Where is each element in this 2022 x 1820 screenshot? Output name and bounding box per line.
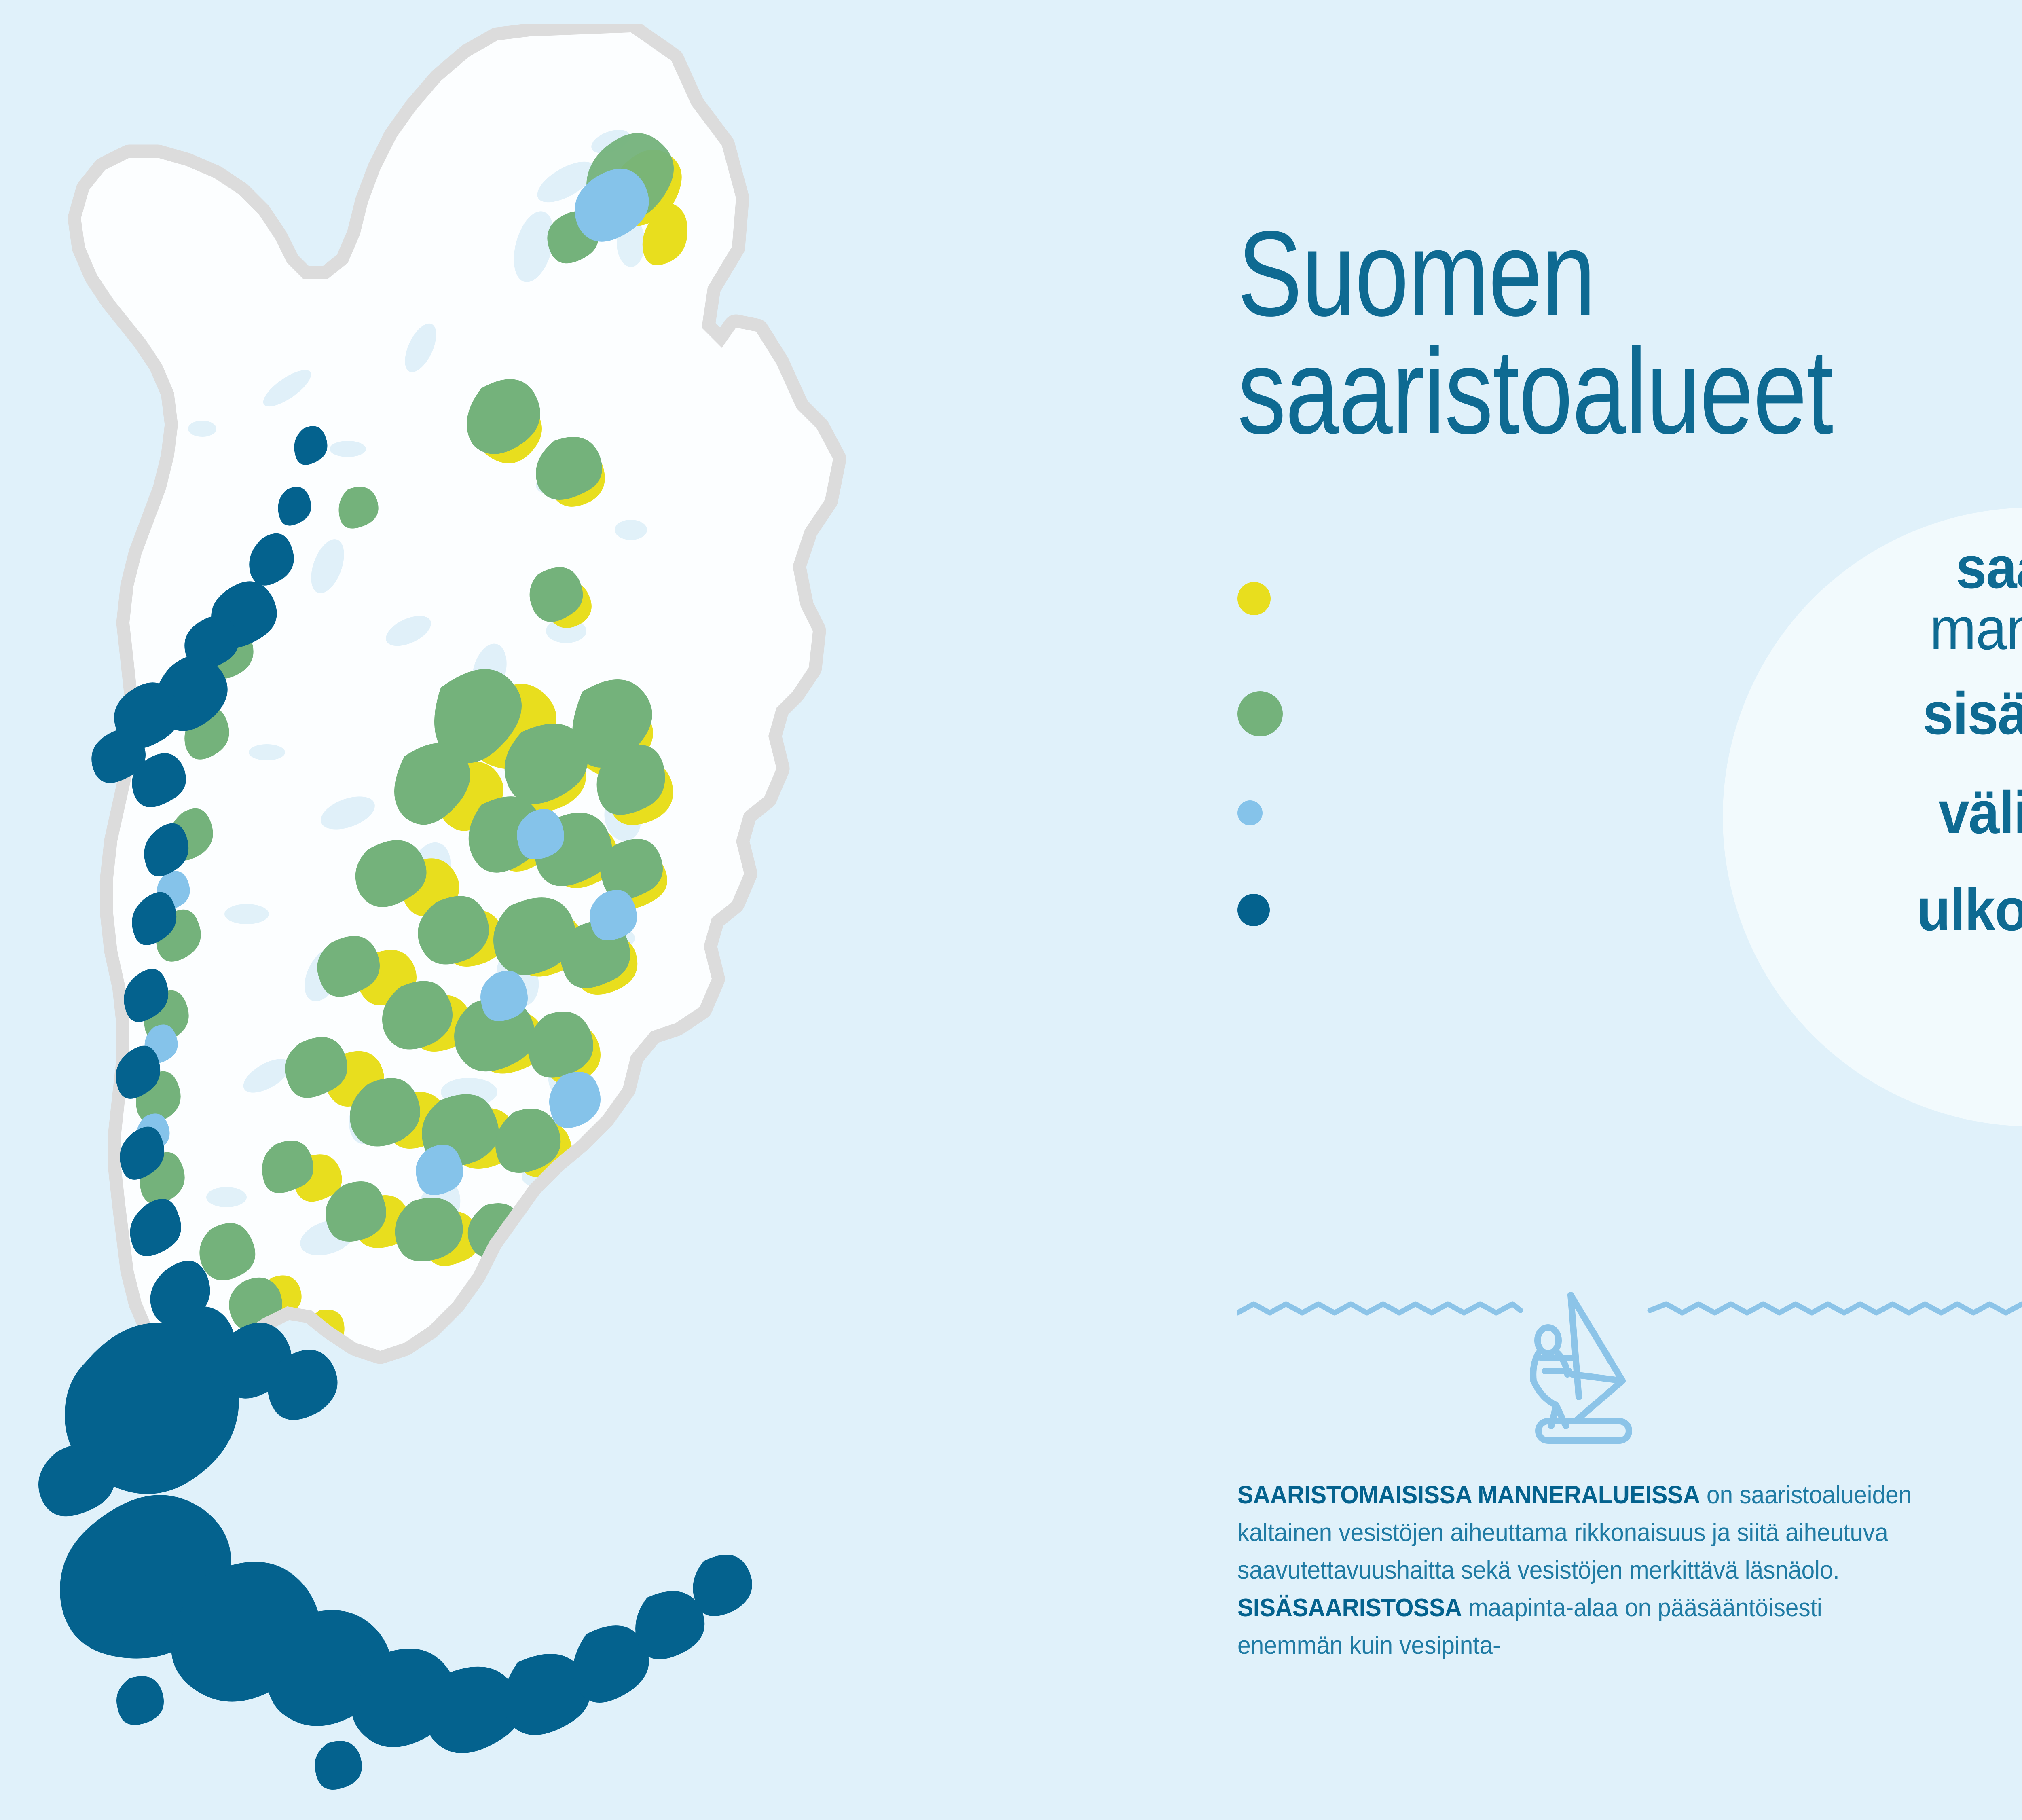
windsurfer-icon [1521, 1290, 1650, 1452]
legend-dot-valisaaristo [1237, 800, 1263, 825]
legend: saaristomainen manneralue23 % sisäsaaris… [1237, 538, 2022, 959]
finland-archipelago-map [24, 24, 1197, 1796]
legend-rest-part: manneralue [1930, 595, 2022, 662]
legend-label-valisaaristo: välisaaristo10 % [1938, 783, 2022, 843]
body-term-sisasaaristo: SISÄSAARISTOSSA [1237, 1594, 1462, 1622]
legend-bold-part: saaristomainen [1956, 534, 2022, 601]
legend-item-valisaaristo[interactable]: välisaaristo10 % [1237, 764, 2022, 861]
legend-dot-sisasaaristo [1237, 691, 1283, 736]
legend-bold-part: väli [1938, 779, 2022, 846]
legend-bold-part: ulko [1917, 876, 2022, 943]
body-text: SAARISTOMAISISSA MANNERALUEISSA on saari… [1237, 1476, 2022, 1664]
legend-dot-ulkosaaristo [1237, 894, 1270, 926]
legend-label-ulkosaaristo: ulkosaaristo22 % [1917, 880, 2022, 940]
legend-item-sisasaaristo[interactable]: sisäsaaristo45 % [1237, 663, 2022, 764]
page-title: Suomen saaristoalueet [1237, 215, 1833, 450]
legend-item-ulkosaaristo[interactable]: ulkosaaristo22 % [1237, 861, 2022, 959]
body-term-saaristomainen: SAARISTOMAISISSA MANNERALUEISSA [1237, 1481, 1700, 1509]
legend-dot-saaristomainen-manneralue [1237, 582, 1271, 615]
legend-bold-part: sisä [1923, 680, 2022, 747]
infographic-root: Suomen saaristoalueet saaristomainen man… [0, 0, 2022, 1820]
legend-item-saaristomainen-manneralue[interactable]: saaristomainen manneralue23 % [1237, 538, 2022, 659]
legend-label-saaristomainen-manneralue: saaristomainen manneralue23 % [1930, 538, 2022, 660]
legend-label-sisasaaristo: sisäsaaristo45 % [1923, 684, 2022, 744]
body-column-1: SAARISTOMAISISSA MANNERALUEISSA on saari… [1237, 1476, 1965, 1664]
